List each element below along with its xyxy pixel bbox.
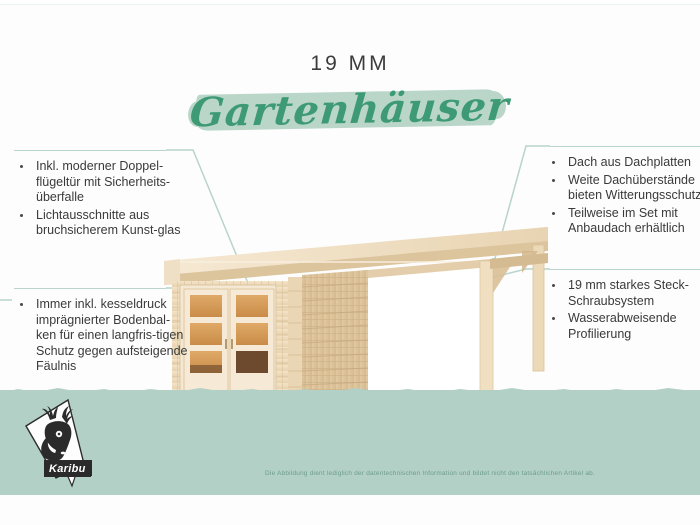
callout-rule [14,150,166,151]
list-item: Inkl. moderner Doppel-flügeltür mit Sich… [14,159,189,206]
callout-top-right-list: Dach aus Dachplatten Weite Dachüberständ… [546,155,700,239]
list-item: Teilweise im Set mit Anbaudach erhältlic… [546,206,700,237]
list-item: Immer inkl. kesseldruck imprägnierter Bo… [14,297,189,375]
callout-bottom-left-list: Immer inkl. kesseldruck imprägnierter Bo… [14,297,189,377]
list-item: Dach aus Dachplatten [546,155,700,171]
footer-disclaimer: Die Abbildung dient lediglich der datent… [0,470,700,477]
callout-rule [550,146,700,147]
list-item: Weite Dachüberstände bieten Witterungssc… [546,173,700,204]
callout-bottom-right-list: 19 mm starkes Steck-Schraubsystem Wasser… [546,278,700,344]
product-infographic: 19 MM Gartenhäuser [0,0,700,525]
callout-top-left-list: Inkl. moderner Doppel-flügeltür mit Sich… [14,159,189,241]
callout-rule [14,288,166,289]
list-item: 19 mm starkes Steck-Schraubsystem [546,278,700,309]
callout-rule [550,269,700,270]
list-item: Wasserabweisende Profilierung [546,311,700,342]
list-item: Lichtausschnitte aus bruchsicherem Kunst… [14,208,189,239]
